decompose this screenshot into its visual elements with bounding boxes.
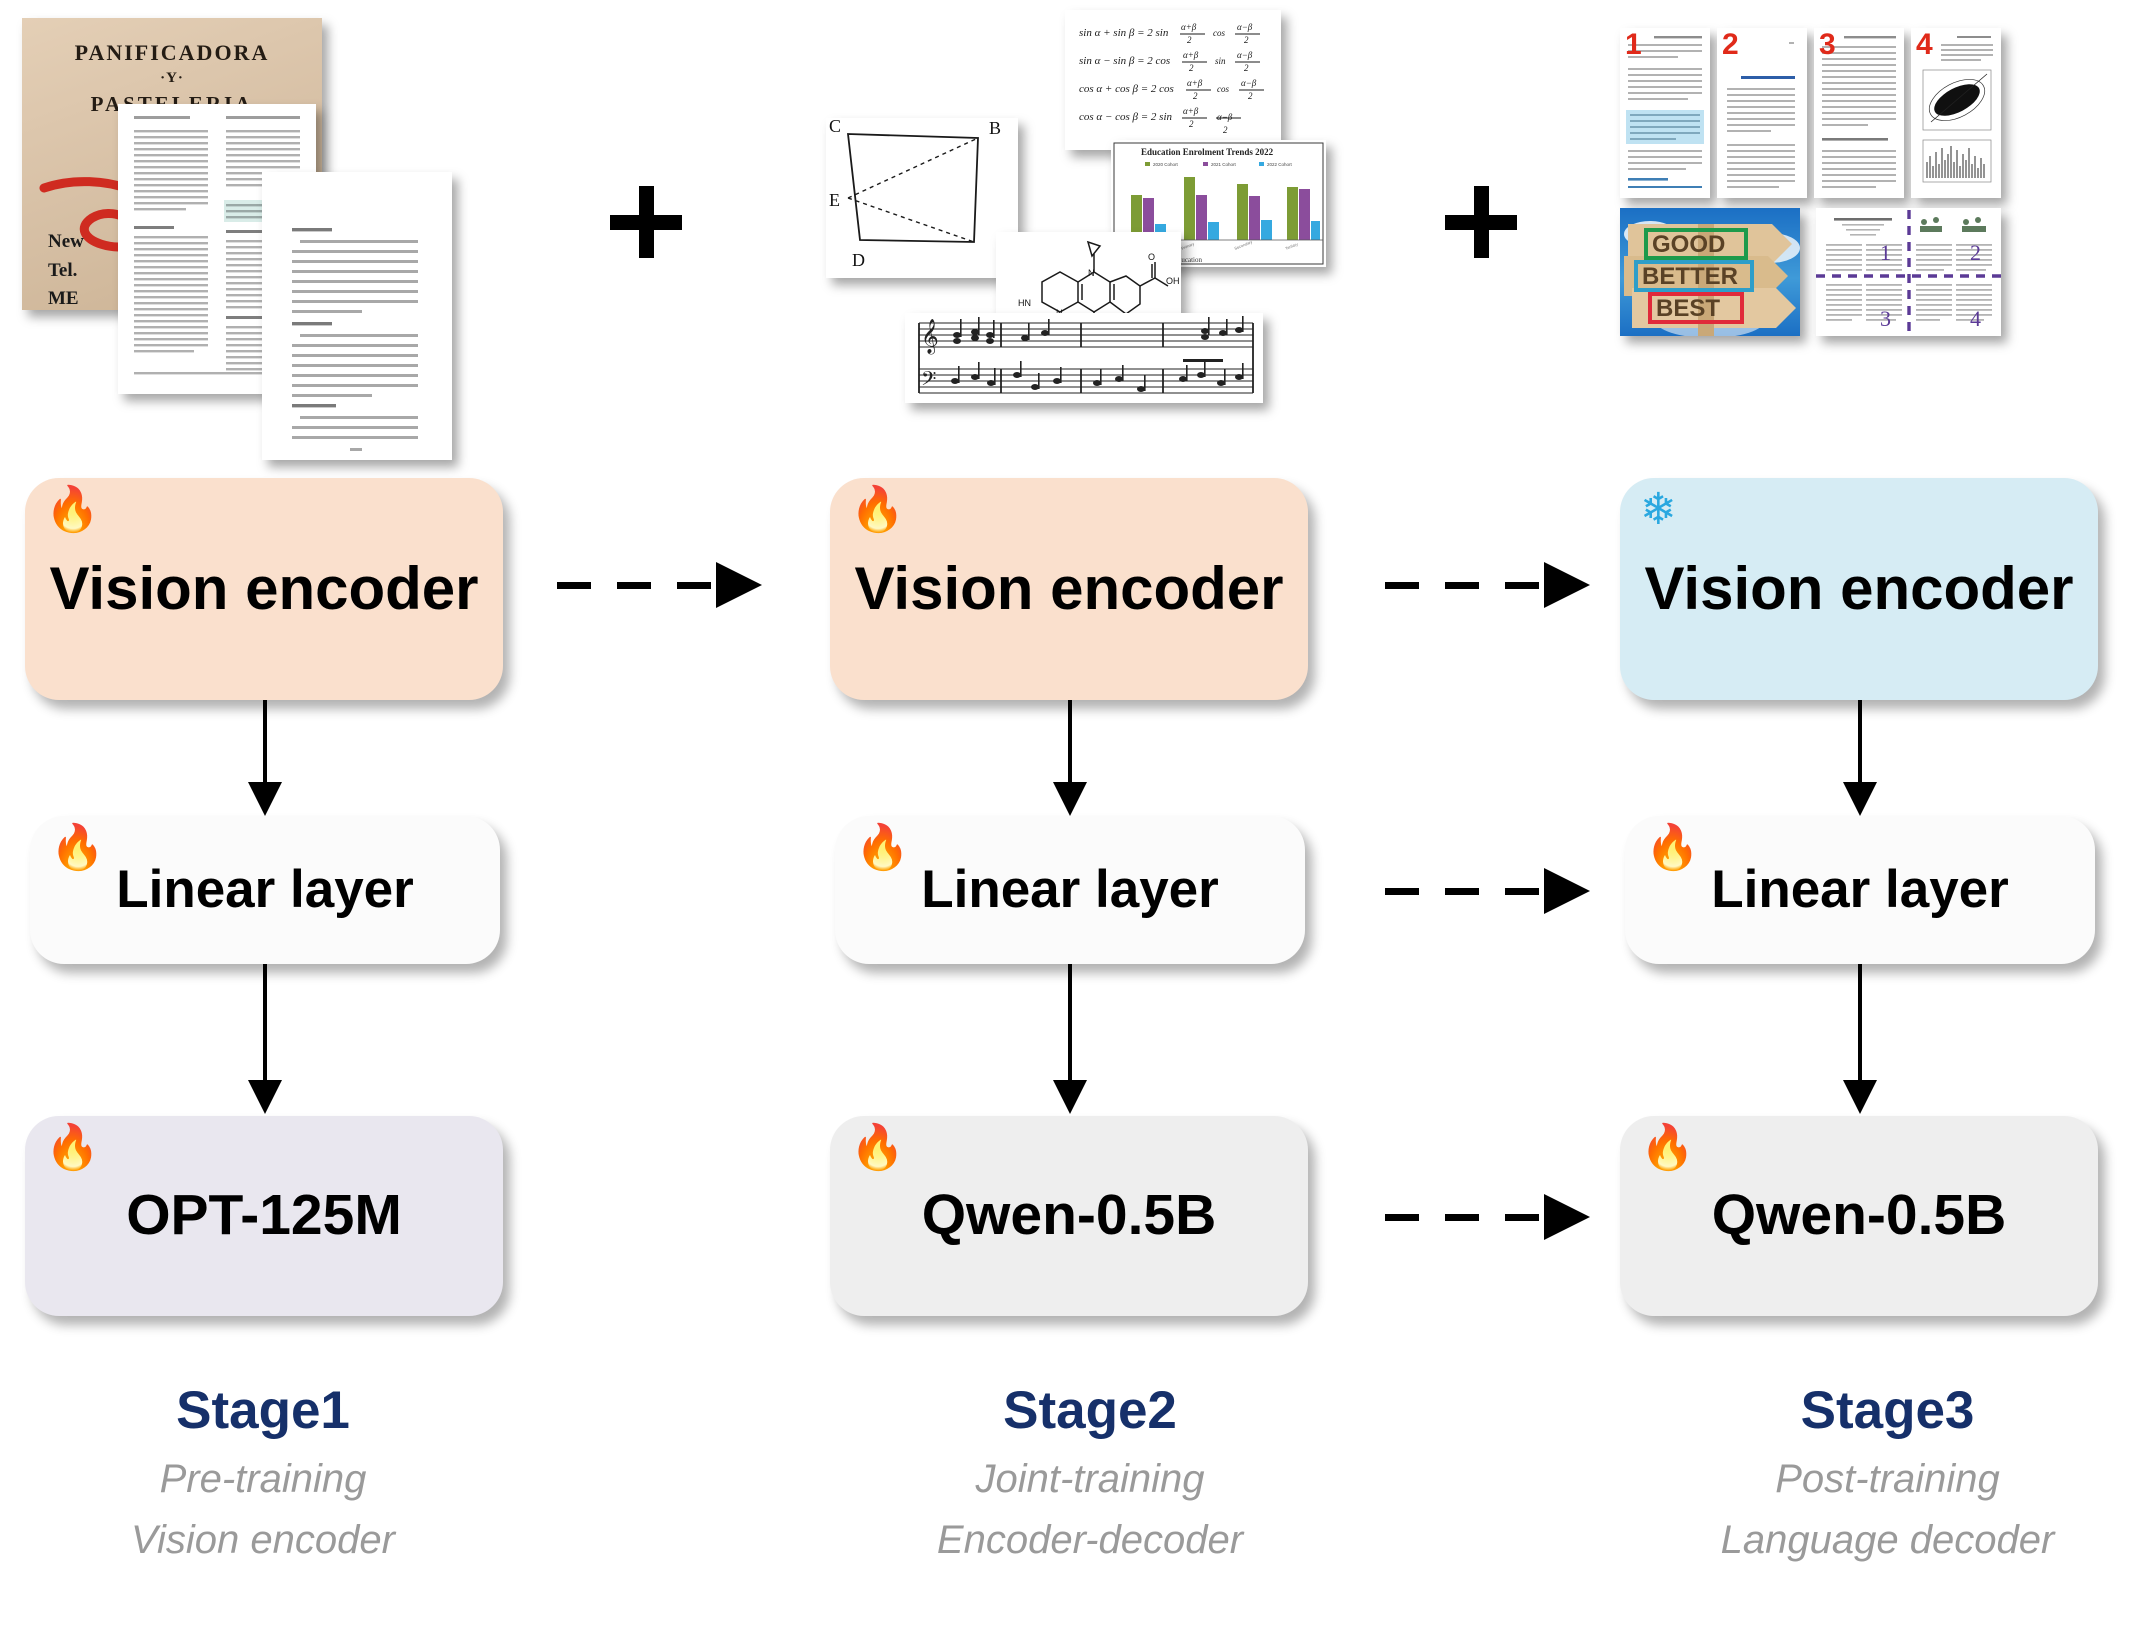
input-thumb-signpost-photo: GOOD BETTER BEST: [1620, 208, 1800, 336]
svg-text:N: N: [1088, 268, 1095, 278]
poster-footer: New Tel. ME: [48, 228, 84, 310]
stage3-linear-layer-label: Linear layer: [1697, 861, 2023, 918]
stage1-linear-layer-box[interactable]: 🔥 Linear layer: [30, 816, 500, 964]
stage1-arrow-encoder-to-linear: [248, 700, 282, 816]
svg-text:cos α + cos β = 2 cos: cos α + cos β = 2 cos: [1079, 83, 1174, 95]
stage1-vision-encoder-box[interactable]: 🔥 Vision encoder: [25, 478, 503, 700]
input-thumb-doc-page-4: 4: [1911, 28, 2001, 198]
stage2-arrow-linear-to-llm: [1053, 964, 1087, 1116]
svg-text:2: 2: [1193, 91, 1198, 101]
svg-text:sin α + sin β = 2 sin: sin α + sin β = 2 sin: [1079, 27, 1169, 39]
svg-text:2022 Cohort: 2022 Cohort: [1267, 162, 1293, 167]
svg-text:OH: OH: [1166, 276, 1180, 286]
geometry-drawing: CB ED: [826, 118, 1018, 278]
svg-text:2: 2: [1248, 91, 1253, 101]
quadrant-doc-figure: 12 34: [1816, 208, 2001, 336]
stage1-language-model-box[interactable]: 🔥 OPT-125M: [25, 1116, 503, 1316]
dashed-line: [1385, 582, 1546, 589]
svg-text:α+β: α+β: [1183, 50, 1199, 60]
poster-line-1: PANIFICADORA: [38, 40, 306, 66]
input-thumb-chinese-document: [262, 172, 452, 460]
svg-text:2: 2: [1970, 240, 1981, 265]
svg-text:α−β: α−β: [1237, 22, 1253, 32]
svg-text:2: 2: [1244, 35, 1249, 45]
svg-text:Education Enrolment Trends 202: Education Enrolment Trends 2022: [1141, 147, 1274, 157]
plus-icon-2: [1445, 186, 1517, 258]
svg-text:BEST: BEST: [1656, 295, 1720, 322]
transfer-arrow-encoder-1-to-2: [557, 570, 762, 600]
stage2-sub-2: Encoder-decoder: [785, 1518, 1395, 1563]
stage1-name: Stage1: [0, 1380, 568, 1441]
svg-text:α−β: α−β: [1237, 50, 1253, 60]
stage2-language-model-box[interactable]: 🔥 Qwen-0.5B: [830, 1116, 1308, 1316]
flame-icon: 🔥: [850, 488, 905, 532]
stage-1-column: PANIFICADORA ·Y· PASTELERIA CE New Tel. …: [0, 0, 700, 1636]
svg-text:2: 2: [1189, 63, 1194, 73]
flame-icon: 🔥: [855, 826, 910, 870]
stage3-vision-encoder-label: Vision encoder: [1630, 557, 2087, 622]
svg-text:2021 Cohort: 2021 Cohort: [1211, 162, 1237, 167]
poster-line-2: ·Y·: [38, 70, 306, 87]
stage3-caption: Stage3 Post-training Language decoder: [1565, 1380, 2155, 1563]
arrow-head: [1544, 1194, 1590, 1240]
svg-text:α−β: α−β: [1217, 112, 1233, 122]
input-thumb-doc-page-3: 3: [1814, 28, 1904, 198]
dashed-line: [1385, 1214, 1546, 1221]
svg-text:4: 4: [1970, 306, 1981, 331]
stage2-sub-1: Joint-training: [785, 1457, 1395, 1502]
stage3-vision-encoder-box[interactable]: ❄ Vision encoder: [1620, 478, 2098, 700]
svg-text:cos α − cos β = 2 sin: cos α − cos β = 2 sin: [1079, 111, 1173, 123]
stage2-linear-layer-box[interactable]: 🔥 Linear layer: [835, 816, 1305, 964]
page-number-label: 4: [1916, 30, 1933, 60]
stage-2-column: sin α + sin β = 2 sin sin α − sin β = 2 …: [830, 0, 1530, 1636]
svg-text:2020 Cohort: 2020 Cohort: [1153, 162, 1179, 167]
stage3-name: Stage3: [1565, 1380, 2155, 1441]
flame-icon: 🔥: [1645, 826, 1700, 870]
stage3-arrow-linear-to-llm: [1843, 964, 1877, 1116]
svg-text:2: 2: [1244, 63, 1249, 73]
svg-text:O: O: [1148, 252, 1155, 262]
svg-text:𝄞: 𝄞: [921, 319, 939, 355]
svg-text:α−β: α−β: [1241, 78, 1257, 88]
stage3-linear-layer-box[interactable]: 🔥 Linear layer: [1625, 816, 2095, 964]
stage1-arrow-linear-to-llm: [248, 964, 282, 1116]
flame-icon: 🔥: [45, 1126, 100, 1170]
stage1-vision-encoder-label: Vision encoder: [35, 557, 492, 622]
stage2-vision-encoder-label: Vision encoder: [840, 557, 1297, 622]
page-number-label: 2: [1722, 30, 1739, 60]
svg-text:α+β: α+β: [1181, 22, 1197, 32]
stage1-linear-layer-label: Linear layer: [102, 861, 428, 918]
svg-text:sin: sin: [1215, 56, 1226, 66]
stage1-sub-1: Pre-training: [0, 1457, 568, 1502]
svg-text:1: 1: [1880, 240, 1891, 265]
svg-text:2: 2: [1189, 119, 1194, 129]
flame-icon: 🔥: [850, 1126, 905, 1170]
signpost-drawing: GOOD BETTER BEST: [1620, 208, 1800, 336]
stage3-arrow-encoder-to-linear: [1843, 700, 1877, 816]
svg-text:BETTER: BETTER: [1642, 263, 1738, 290]
svg-text:GOOD: GOOD: [1652, 231, 1725, 258]
arrow-head: [716, 562, 762, 608]
svg-text:α+β: α+β: [1183, 106, 1199, 116]
stage3-language-model-box[interactable]: 🔥 Qwen-0.5B: [1620, 1116, 2098, 1316]
formula-lines: sin α + sin β = 2 sin sin α − sin β = 2 …: [1065, 10, 1281, 150]
stage3-sub-1: Post-training: [1565, 1457, 2155, 1502]
transfer-arrow-llm-2-to-3: [1385, 1202, 1590, 1232]
svg-text:sin α − sin β = 2 cos: sin α − sin β = 2 cos: [1079, 55, 1170, 67]
svg-text:B: B: [989, 118, 1001, 138]
stage2-language-model-label: Qwen-0.5B: [908, 1185, 1231, 1247]
music-staves: 𝄞 𝄢: [905, 313, 1263, 403]
flame-icon: 🔥: [45, 488, 100, 532]
page-number-label: 1: [1625, 30, 1642, 60]
stage1-language-model-label: OPT-125M: [112, 1185, 416, 1247]
svg-text:𝄢: 𝄢: [921, 367, 936, 395]
svg-text:D: D: [852, 250, 865, 270]
input-thumb-doc-page-2: 2: [1717, 28, 1807, 198]
svg-text:α+β: α+β: [1187, 78, 1203, 88]
stage-3-column: 1 2: [1620, 0, 2155, 1636]
svg-text:cos: cos: [1213, 28, 1225, 38]
stage2-vision-encoder-box[interactable]: 🔥 Vision encoder: [830, 478, 1308, 700]
svg-text:2: 2: [1223, 125, 1228, 135]
input-thumb-trig-formulas: sin α + sin β = 2 sin sin α − sin β = 2 …: [1065, 10, 1281, 150]
svg-text:HN: HN: [1018, 298, 1031, 308]
input-thumb-quadrant-document: 12 34: [1816, 208, 2001, 336]
svg-text:3: 3: [1880, 306, 1891, 331]
transfer-arrow-linear-2-to-3: [1385, 876, 1590, 906]
input-thumb-sheet-music: 𝄞 𝄢: [905, 313, 1263, 403]
arrow-head: [1544, 562, 1590, 608]
page-number-label: 3: [1819, 30, 1836, 60]
svg-text:C: C: [829, 118, 841, 136]
input-thumb-geometry-figure: CB ED: [826, 118, 1018, 278]
input-thumb-doc-page-1: 1: [1620, 28, 1710, 198]
snowflake-icon: ❄: [1640, 488, 1677, 532]
plus-icon-1: [610, 186, 682, 258]
stage2-linear-layer-label: Linear layer: [907, 861, 1233, 918]
stage1-sub-2: Vision encoder: [0, 1518, 568, 1563]
dashed-line: [1385, 888, 1546, 895]
dashed-line: [557, 582, 718, 589]
flame-icon: 🔥: [1640, 1126, 1695, 1170]
stage3-language-model-label: Qwen-0.5B: [1698, 1185, 2021, 1247]
stage1-caption: Stage1 Pre-training Vision encoder: [0, 1380, 568, 1563]
svg-text:2: 2: [1187, 35, 1192, 45]
stage2-caption: Stage2 Joint-training Encoder-decoder: [785, 1380, 1395, 1563]
svg-text:cos: cos: [1217, 84, 1229, 94]
cn-doc-lines: [262, 172, 452, 460]
stage2-name: Stage2: [785, 1380, 1395, 1441]
stage3-sub-2: Language decoder: [1565, 1518, 2155, 1563]
svg-text:E: E: [829, 190, 840, 210]
arrow-head: [1544, 868, 1590, 914]
transfer-arrow-encoder-2-to-3: [1385, 570, 1590, 600]
stage2-arrow-encoder-to-linear: [1053, 700, 1087, 816]
flame-icon: 🔥: [50, 826, 105, 870]
